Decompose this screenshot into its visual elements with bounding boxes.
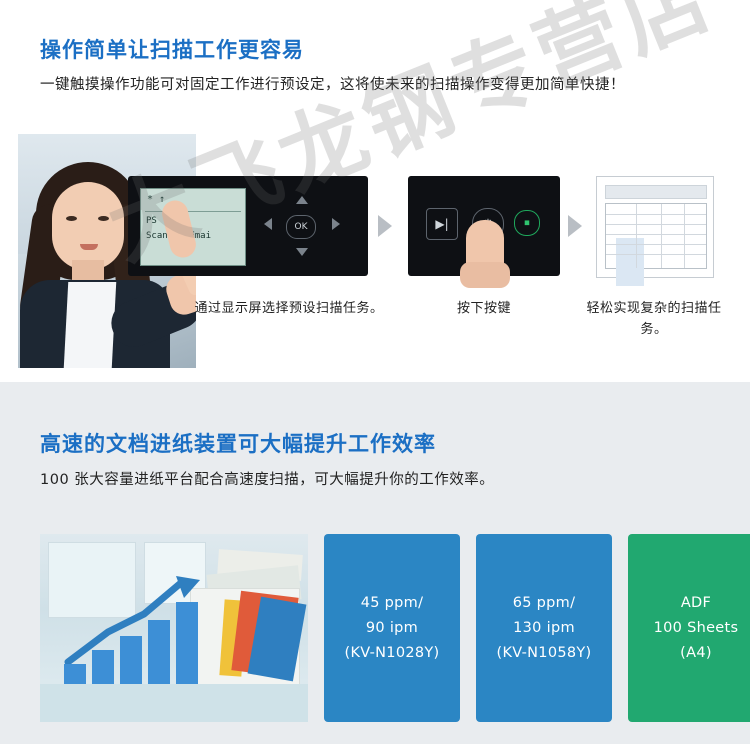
lcd-screen: * ↑ PS Scan to Emai: [140, 188, 246, 266]
caption-step-3: 轻松实现复杂的扫描任务。: [584, 298, 724, 340]
section2-description: 100 张大容量进纸平台配合高速度扫描，可大幅提升你的工作效率。: [40, 468, 494, 489]
caption-step-2: 按下按键: [420, 298, 548, 319]
right-eye: [98, 216, 109, 221]
spec-tile-3: ADF 100 Sheets (A4): [628, 534, 750, 722]
document-table: [605, 203, 707, 269]
bar-3: [120, 636, 142, 684]
stop-button[interactable]: ⏹: [514, 210, 540, 236]
bar-4: [148, 620, 170, 684]
caption-step-1: 通过显示屏选择预设扫描任务。: [194, 298, 384, 319]
arrow-right-icon[interactable]: [332, 218, 340, 230]
face-shape: [52, 182, 124, 270]
scanned-document: [596, 176, 714, 278]
document-header-bar: [605, 185, 707, 199]
section2-title: 高速的文档进纸装置可大幅提升工作效率: [40, 428, 436, 458]
section1-title: 操作简单让扫描工作更容易: [40, 34, 304, 64]
bar-1: [64, 664, 86, 684]
arrow-up-icon[interactable]: [296, 196, 308, 204]
arrow-down-icon[interactable]: [296, 248, 308, 256]
spec-tile-1: 45 ppm/ 90 ipm (KV-N1028Y): [324, 534, 460, 722]
section-divider: [0, 382, 750, 396]
arrow-left-icon[interactable]: [264, 218, 272, 230]
lcd-line1: PS: [146, 216, 157, 226]
section1-description: 一键触摸操作功能可对固定工作进行预设定，这将使未来的扫描操作变得更加简单快捷！: [40, 72, 712, 99]
ok-button[interactable]: OK: [286, 215, 316, 239]
flow-arrow-2-icon: [568, 215, 582, 237]
section2-content: 45 ppm/ 90 ipm (KV-N1028Y) 65 ppm/ 130 i…: [40, 534, 716, 722]
office-chart-photo: [40, 534, 308, 722]
section-adf-speed: 高速的文档进纸装置可大幅提升工作效率 100 张大容量进纸平台配合高速度扫描，可…: [0, 396, 750, 744]
lcd-top-text: * ↑: [147, 194, 165, 205]
bar-2: [92, 650, 114, 684]
section1-inner: 操作简单让扫描工作更容易 一键触摸操作功能可对固定工作进行预设定，这将使未来的扫…: [18, 10, 732, 370]
spec-tile-2: 65 ppm/ 130 ipm (KV-N1058Y): [476, 534, 612, 722]
shirt: [64, 282, 117, 368]
desk-surface: [40, 684, 308, 722]
left-eye: [66, 216, 77, 221]
flow-arrow-1-icon: [378, 215, 392, 237]
bar-5: [176, 602, 198, 684]
start-button[interactable]: ▶|: [426, 208, 458, 240]
lcd-divider: [145, 211, 241, 212]
page-root: 操作简单让扫描工作更容易 一键触摸操作功能可对固定工作进行预设定，这将使未来的扫…: [0, 0, 750, 744]
document-highlight-column: [616, 238, 644, 286]
section-scan-operation: 操作简单让扫描工作更容易 一键触摸操作功能可对固定工作进行预设定，这将使未来的扫…: [0, 0, 750, 382]
pressing-hand-palm: [460, 262, 510, 288]
